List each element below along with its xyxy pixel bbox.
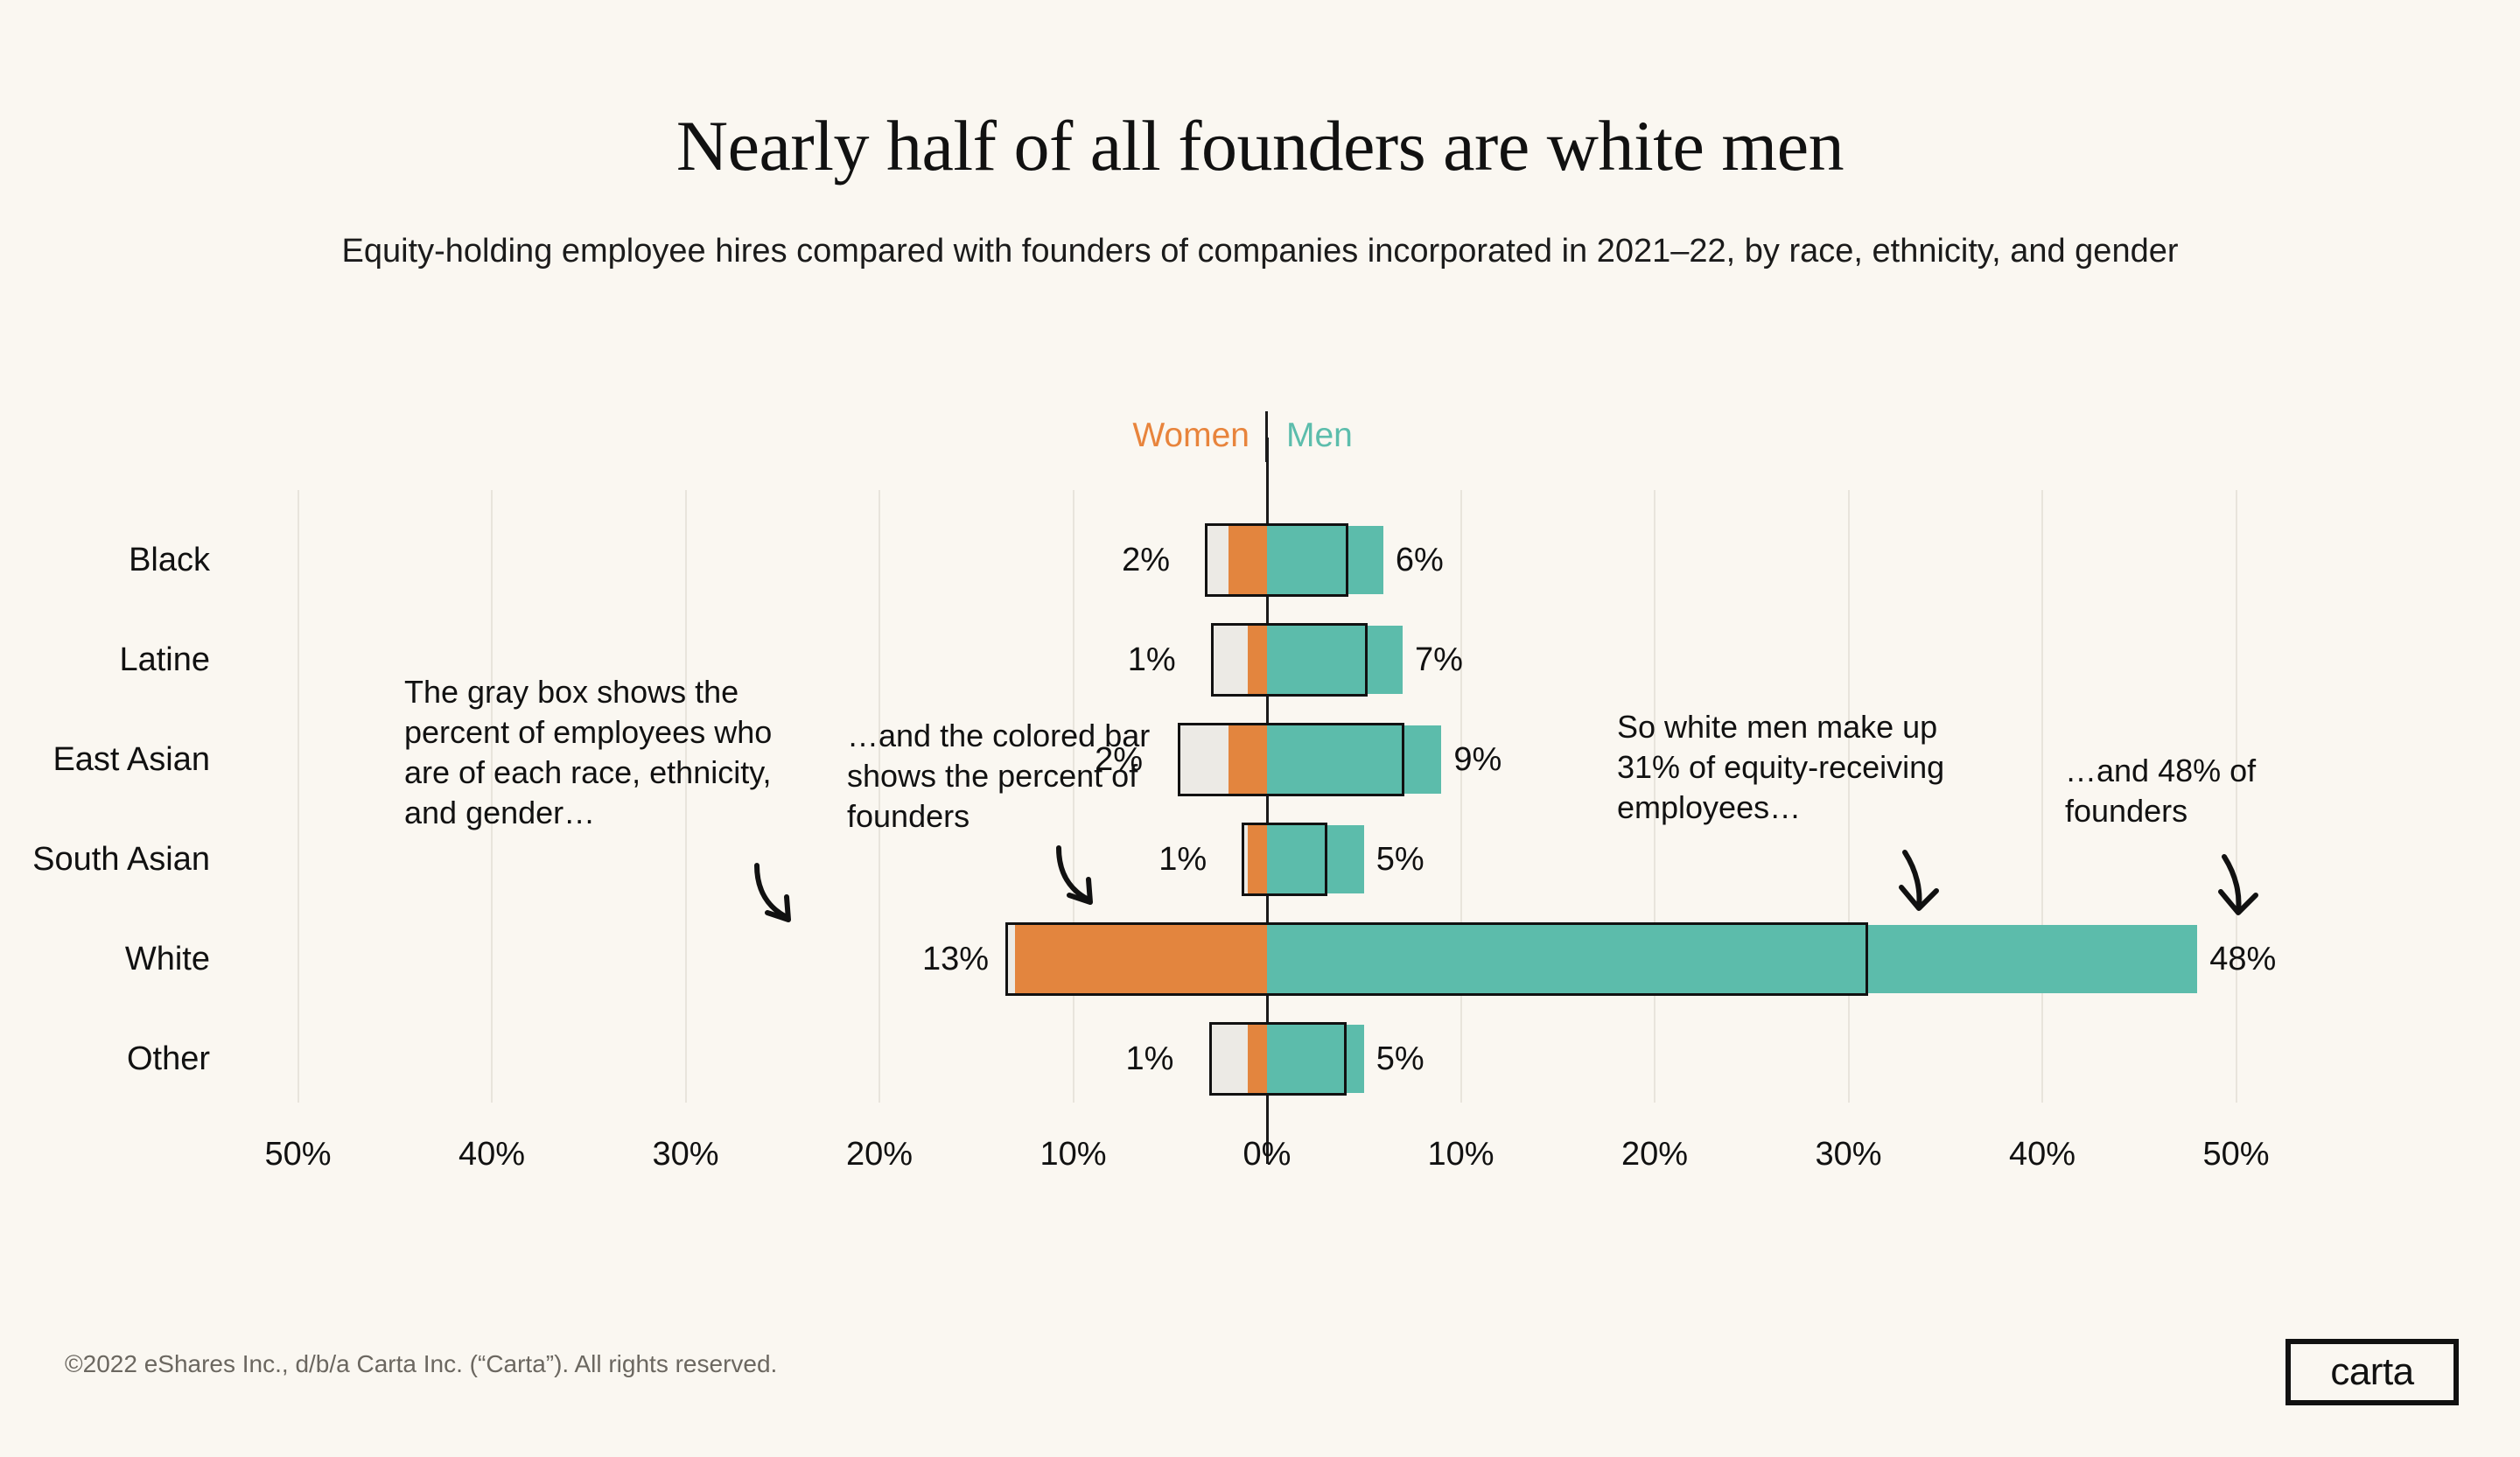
row-label-black: Black bbox=[129, 543, 210, 577]
x-tick-label: 40% bbox=[422, 1138, 562, 1171]
row-label-east-asian: East Asian bbox=[52, 743, 210, 776]
x-tick-label: 30% bbox=[616, 1138, 756, 1171]
value-label-women-black: 2% bbox=[1122, 543, 1170, 577]
carta-logo-text: carta bbox=[2330, 1353, 2413, 1391]
x-tick-label: 50% bbox=[2166, 1138, 2306, 1171]
footer-copyright: ©2022 eShares Inc., d/b/a Carta Inc. (“C… bbox=[65, 1352, 777, 1376]
gridline bbox=[2041, 490, 2043, 1103]
legend-item-women: Women bbox=[899, 418, 1249, 452]
annotation-white-men-founders-note: …and 48% of founders bbox=[2065, 751, 2327, 831]
x-tick-label: 10% bbox=[1004, 1138, 1144, 1171]
value-label-men-east-asian: 9% bbox=[1453, 743, 1501, 776]
row-label-south-asian: South Asian bbox=[32, 843, 210, 876]
value-label-men-latine: 7% bbox=[1415, 643, 1463, 676]
x-tick-label: 10% bbox=[1391, 1138, 1531, 1171]
row-label-white: White bbox=[125, 942, 210, 976]
x-tick-label: 20% bbox=[1585, 1138, 1725, 1171]
x-tick-label: 20% bbox=[809, 1138, 949, 1171]
x-tick-label: 0% bbox=[1197, 1138, 1337, 1171]
value-label-men-other: 5% bbox=[1376, 1042, 1424, 1075]
value-label-women-white: 13% bbox=[922, 942, 989, 976]
employee-box-outline-white bbox=[1005, 922, 1868, 996]
value-label-men-white: 48% bbox=[2209, 942, 2276, 976]
x-tick-label: 50% bbox=[228, 1138, 368, 1171]
value-label-women-south-asian: 1% bbox=[1158, 843, 1207, 876]
gridline bbox=[297, 490, 299, 1103]
legend-item-men: Men bbox=[1286, 418, 1636, 452]
x-tick-label: 40% bbox=[1972, 1138, 2112, 1171]
row-label-other: Other bbox=[127, 1042, 210, 1075]
employee-box-outline-other bbox=[1209, 1022, 1347, 1096]
row-label-latine: Latine bbox=[119, 643, 210, 676]
employee-box-outline-east-asian bbox=[1178, 723, 1404, 796]
gridline bbox=[1460, 490, 1462, 1103]
annotation-arrow-4-icon bbox=[2205, 853, 2266, 923]
annotation-arrow-1-icon bbox=[748, 862, 809, 932]
value-label-women-latine: 1% bbox=[1128, 643, 1176, 676]
chart-plot-area: Women Men Black2%6%Latine1%7%East Asian2… bbox=[0, 0, 2520, 1457]
annotation-colored-bar-note: …and the colored bar shows the percent o… bbox=[847, 716, 1190, 837]
value-label-men-south-asian: 5% bbox=[1376, 843, 1424, 876]
employee-box-outline-south-asian bbox=[1242, 823, 1326, 896]
annotation-white-men-employees-note: So white men make up 31% of equity-recei… bbox=[1617, 707, 1995, 828]
annotation-arrow-3-icon bbox=[1886, 849, 1947, 919]
value-label-women-other: 1% bbox=[1126, 1042, 1174, 1075]
legend-divider bbox=[1265, 411, 1268, 462]
annotation-arrow-2-icon bbox=[1050, 844, 1111, 914]
employee-box-outline-latine bbox=[1211, 623, 1368, 697]
employee-box-outline-black bbox=[1205, 523, 1348, 597]
annotation-gray-box-note: The gray box shows the percent of employ… bbox=[404, 672, 808, 833]
x-tick-label: 30% bbox=[1779, 1138, 1919, 1171]
value-label-men-black: 6% bbox=[1396, 543, 1444, 577]
carta-logo: carta bbox=[2285, 1339, 2459, 1405]
